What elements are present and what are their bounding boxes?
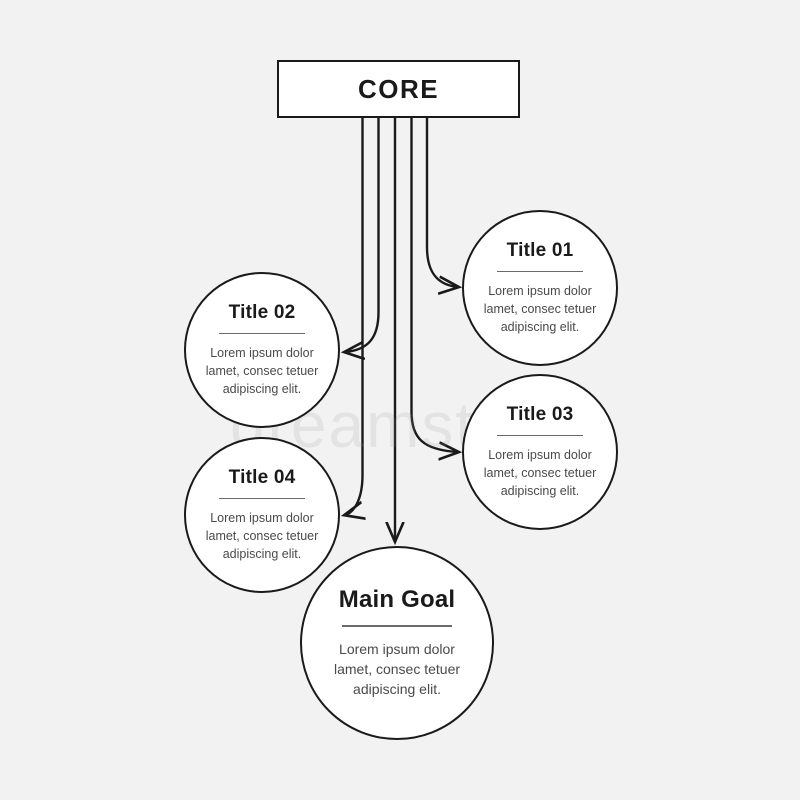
node-title-04-body: Lorem ipsum dolor lamet, consec tetuer a…: [206, 509, 319, 563]
node-title-03-heading: Title 03: [507, 404, 574, 426]
node-title-01-divider: [497, 271, 583, 273]
node-title-04-divider: [219, 498, 305, 500]
node-title-04[interactable]: Title 04 Lorem ipsum dolor lamet, consec…: [184, 437, 340, 593]
node-title-03-body: Lorem ipsum dolor lamet, consec tetuer a…: [484, 446, 597, 500]
node-title-03[interactable]: Title 03 Lorem ipsum dolor lamet, consec…: [462, 374, 618, 530]
connector-core-to-title-04: [345, 118, 363, 515]
node-title-02[interactable]: Title 02 Lorem ipsum dolor lamet, consec…: [184, 272, 340, 428]
node-title-03-divider: [497, 435, 583, 437]
node-title-02-body: Lorem ipsum dolor lamet, consec tetuer a…: [206, 344, 319, 398]
node-main-goal-heading: Main Goal: [339, 586, 455, 614]
node-title-01-body: Lorem ipsum dolor lamet, consec tetuer a…: [484, 282, 597, 336]
node-main-goal-divider: [342, 625, 452, 627]
node-title-02-heading: Title 02: [229, 302, 296, 324]
node-main-goal-body: Lorem ipsum dolor lamet, consec tetuer a…: [334, 639, 460, 700]
connector-core-to-title-01: [427, 118, 458, 287]
node-title-04-heading: Title 04: [229, 467, 296, 489]
node-title-02-divider: [219, 333, 305, 335]
core-box[interactable]: CORE: [277, 60, 520, 118]
infographic-canvas: dreamstime CORE Title 01 Lorem: [0, 0, 800, 800]
node-title-01[interactable]: Title 01 Lorem ipsum dolor lamet, consec…: [462, 210, 618, 366]
node-main-goal[interactable]: Main Goal Lorem ipsum dolor lamet, conse…: [300, 546, 494, 740]
core-label: CORE: [358, 74, 439, 105]
node-title-01-heading: Title 01: [507, 240, 574, 262]
